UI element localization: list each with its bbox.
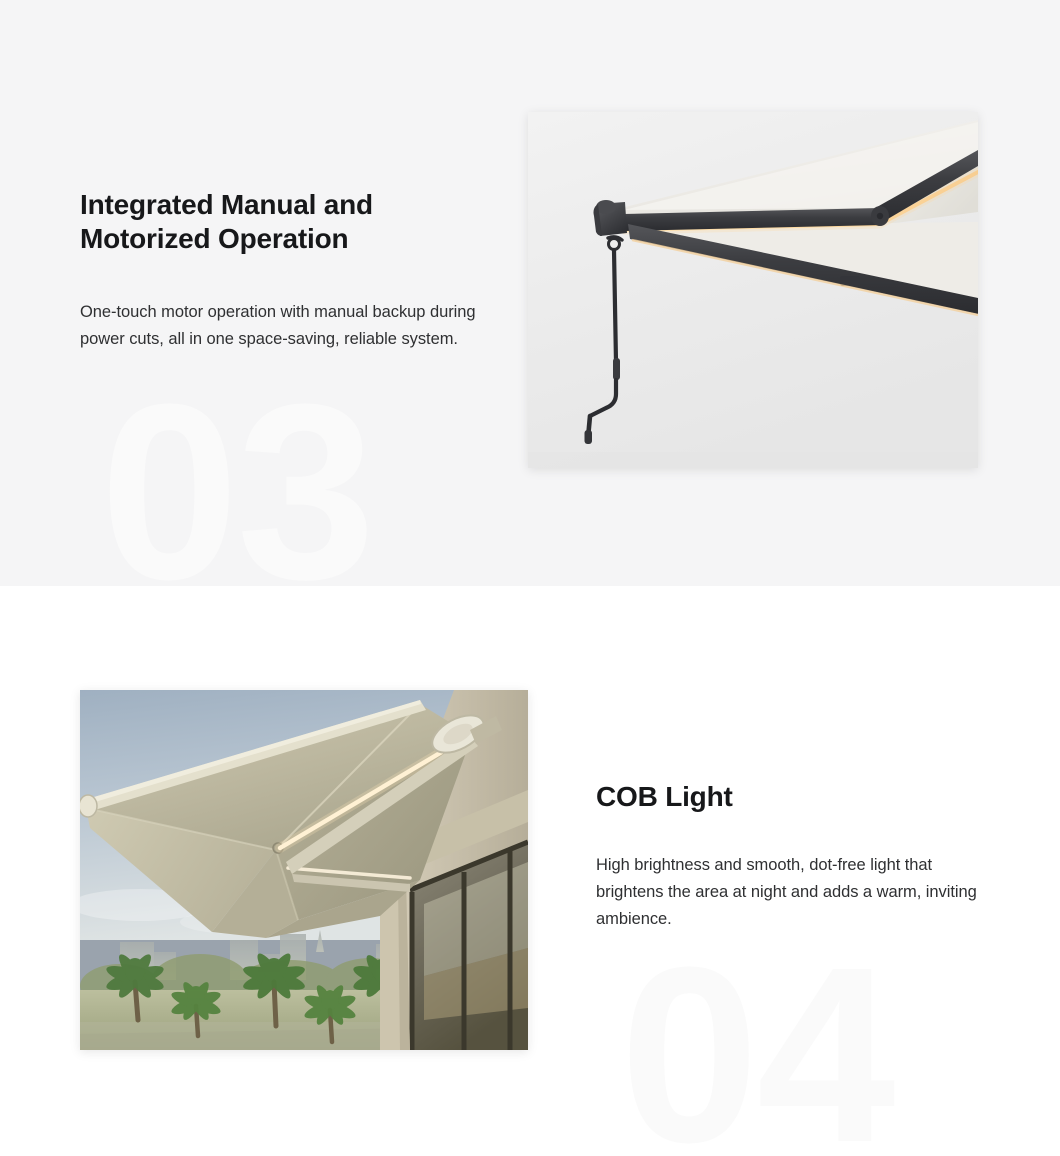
feature-text-block-04: COB Light High brightness and smooth, do…	[596, 780, 996, 933]
watermark-number-04: 04	[620, 930, 893, 1156]
feature-image-awning-arm	[528, 112, 978, 468]
feature-body-04: High brightness and smooth, dot-free lig…	[596, 852, 996, 932]
feature-body-03: One-touch motor operation with manual ba…	[80, 299, 480, 352]
feature-text-block-03: Integrated Manual and Motorized Operatio…	[80, 188, 480, 352]
feature-heading-03: Integrated Manual and Motorized Operatio…	[80, 188, 480, 257]
patio-awning-illustration	[80, 690, 528, 1050]
watermark-number-03: 03	[100, 367, 373, 586]
feature-page: 03 Integrated Manual and Motorized Opera…	[0, 0, 1060, 1156]
feature-image-patio-awning	[80, 690, 528, 1050]
awning-arm-illustration	[528, 112, 978, 468]
feature-heading-04: COB Light	[596, 780, 996, 814]
